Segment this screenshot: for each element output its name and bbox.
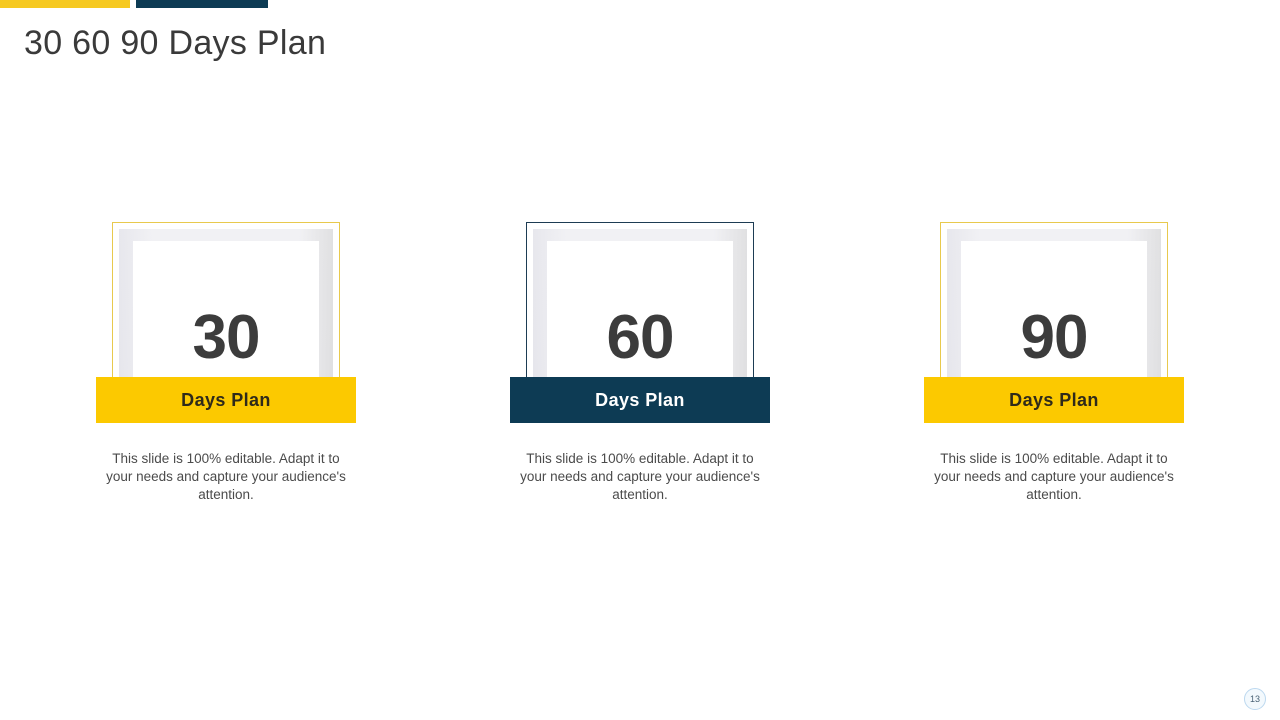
plan-card-banner-label: Days Plan xyxy=(181,390,271,411)
plan-card-inner-plate: 30 xyxy=(133,241,319,398)
plan-card-banner-label: Days Plan xyxy=(595,390,685,411)
plan-card-frame: 30 xyxy=(112,222,340,399)
plan-card-banner-label: Days Plan xyxy=(1009,390,1099,411)
plan-card-description: This slide is 100% editable. Adapt it to… xyxy=(926,450,1182,504)
plan-card-number: 90 xyxy=(1021,307,1088,369)
page-title: 30 60 90 Days Plan xyxy=(24,24,326,63)
plan-card-description: This slide is 100% editable. Adapt it to… xyxy=(512,450,768,504)
plan-card-banner[interactable]: Days Plan xyxy=(924,377,1184,423)
plan-card-number: 30 xyxy=(193,307,260,369)
plan-card-inner-plate: 60 xyxy=(547,241,733,398)
plan-card-60[interactable]: 60 Days Plan This slide is 100% editable… xyxy=(433,222,847,504)
plan-card-inner-plate: 90 xyxy=(961,241,1147,398)
accent-bar-yellow xyxy=(0,0,130,8)
plan-card-frame: 90 xyxy=(940,222,1168,399)
plan-card-30[interactable]: 30 Days Plan This slide is 100% editable… xyxy=(19,222,433,504)
plan-card-description: This slide is 100% editable. Adapt it to… xyxy=(98,450,354,504)
plan-cards-row: 30 Days Plan This slide is 100% editable… xyxy=(0,222,1280,504)
accent-bar-navy xyxy=(136,0,268,8)
plan-card-banner[interactable]: Days Plan xyxy=(510,377,770,423)
plan-card-frame: 60 xyxy=(526,222,754,399)
plan-card-banner[interactable]: Days Plan xyxy=(96,377,356,423)
plan-card-number: 60 xyxy=(607,307,674,369)
plan-card-90[interactable]: 90 Days Plan This slide is 100% editable… xyxy=(847,222,1261,504)
page-number-badge: 13 xyxy=(1244,688,1266,710)
